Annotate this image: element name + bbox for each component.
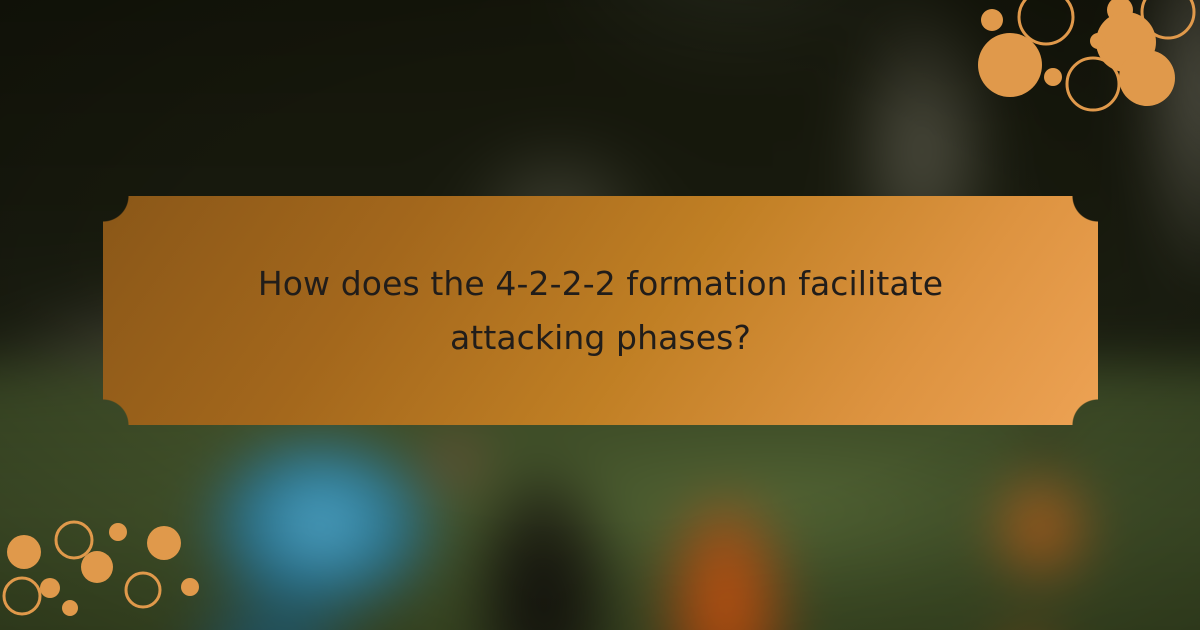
deco-circle — [981, 9, 1003, 31]
deco-circle — [109, 523, 127, 541]
deco-circle — [1044, 68, 1062, 86]
deco-circle — [1090, 33, 1106, 49]
deco-circle — [4, 578, 40, 614]
deco-circle — [1019, 0, 1073, 44]
deco-circle — [1067, 58, 1119, 110]
deco-circle — [181, 578, 199, 596]
deco-circle — [62, 600, 78, 616]
circle-cluster-bottom-left — [0, 490, 215, 630]
deco-circle — [7, 535, 41, 569]
deco-circle — [126, 573, 160, 607]
deco-circle — [56, 522, 92, 558]
deco-circle — [1142, 0, 1194, 38]
question-text: How does the 4-2-2-2 formation facilitat… — [171, 257, 1031, 364]
deco-circle — [81, 551, 113, 583]
social-card-canvas: How does the 4-2-2-2 formation facilitat… — [0, 0, 1200, 630]
deco-circle — [147, 526, 181, 560]
deco-circle — [1119, 50, 1175, 106]
circle-cluster-top-right — [950, 0, 1200, 120]
deco-circle — [978, 33, 1042, 97]
question-card: How does the 4-2-2-2 formation facilitat… — [103, 196, 1098, 425]
deco-circle — [40, 578, 60, 598]
